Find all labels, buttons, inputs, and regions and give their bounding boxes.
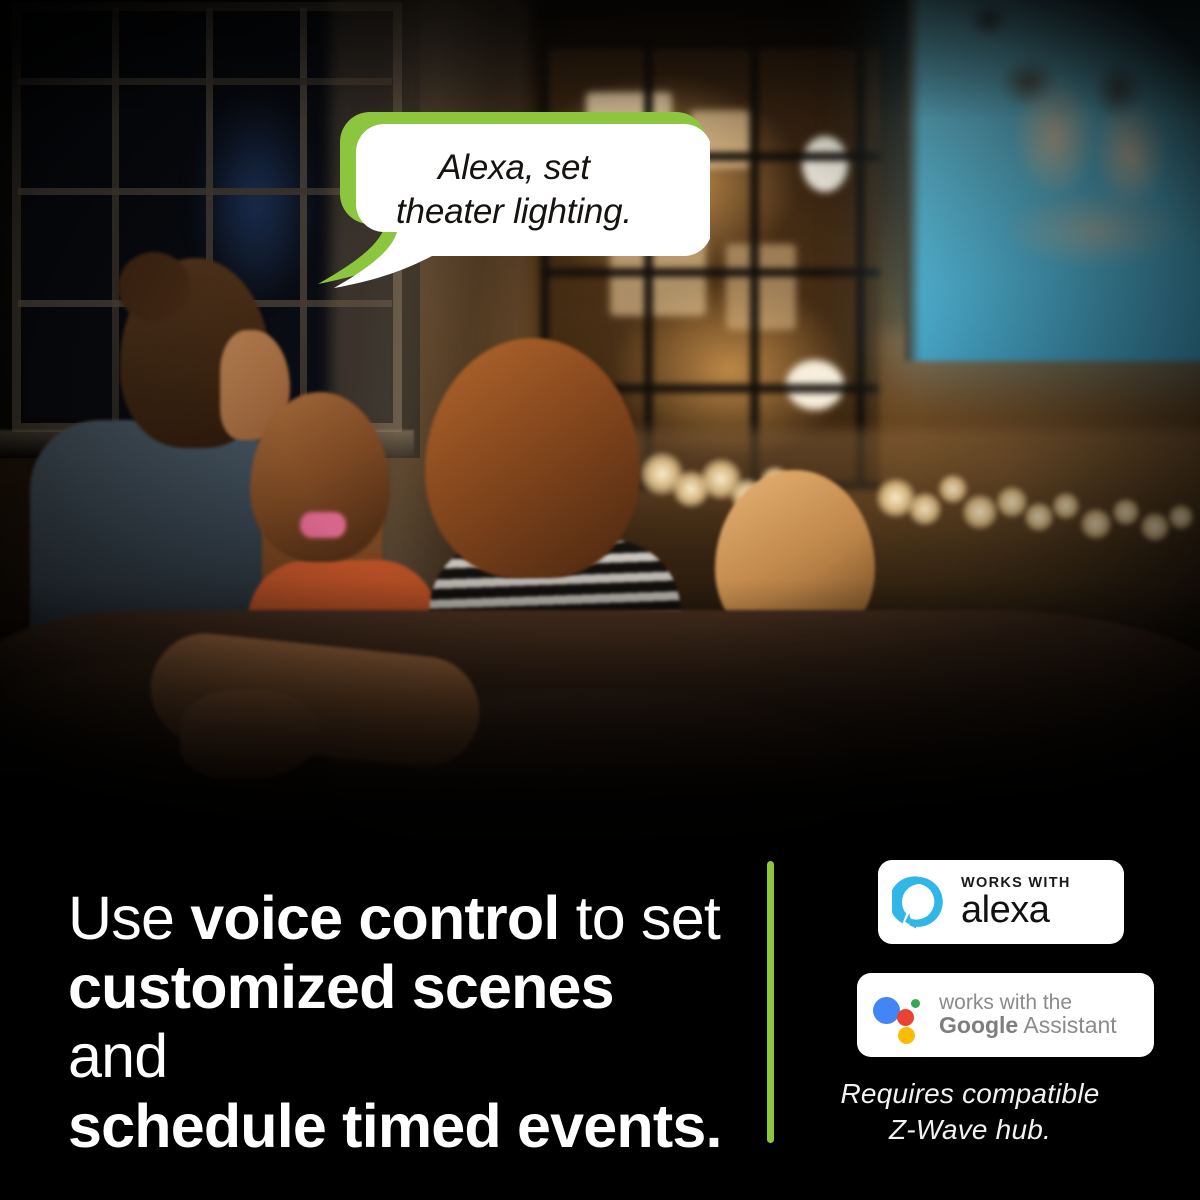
speech-bubble-line-1: Alexa, set <box>438 146 590 190</box>
green-divider <box>767 861 774 1143</box>
works-with-alexa-badge[interactable]: WORKS WITH alexa <box>878 860 1124 944</box>
alexa-wordmark: alexa <box>961 893 1071 928</box>
alexa-eyebrow: WORKS WITH <box>961 876 1071 891</box>
disclaimer-line-1: Requires compatible <box>800 1076 1140 1112</box>
speech-bubble-line-2: theater lighting. <box>396 190 632 234</box>
alexa-ring-icon <box>892 874 948 930</box>
promo-image: Alexa, set theater lighting. Use voice c… <box>0 0 1200 1200</box>
headline-l3-bold: schedule timed events. <box>68 1092 722 1160</box>
headline-line-2: customized scenes and <box>68 953 728 1091</box>
headline-l2-bold: customized scenes <box>68 953 614 1021</box>
headline-line-3: schedule timed events. <box>68 1092 728 1161</box>
works-with-google-assistant-badge[interactable]: works with the Google Assistant <box>857 973 1154 1057</box>
google-wordmark: Google <box>939 1012 1018 1038</box>
headline: Use voice control to set customized scen… <box>68 884 728 1161</box>
headline-l1-bold: voice control <box>190 884 559 952</box>
alexa-badge-text: WORKS WITH alexa <box>961 876 1071 928</box>
assistant-wordmark: Assistant <box>1018 1012 1116 1038</box>
headline-l1-pre: Use <box>68 884 190 952</box>
person-girl-hair-tie <box>300 512 346 538</box>
disclaimer-line-2: Z-Wave hub. <box>800 1112 1140 1148</box>
speech-bubble-text: Alexa, set theater lighting. <box>330 130 698 250</box>
headline-l2-post: and <box>68 1022 167 1090</box>
google-assistant-dots-icon <box>873 989 925 1041</box>
disclaimer: Requires compatible Z-Wave hub. <box>800 1076 1140 1149</box>
headline-line-1: Use voice control to set <box>68 884 728 953</box>
google-badge-line-1: works with the <box>939 992 1117 1014</box>
google-badge-line-2: Google Assistant <box>939 1014 1117 1038</box>
speech-bubble: Alexa, set theater lighting. <box>300 108 710 288</box>
person-father-hair-bun <box>118 252 190 322</box>
headline-l1-post: to set <box>559 884 720 952</box>
google-badge-text: works with the Google Assistant <box>939 992 1117 1038</box>
